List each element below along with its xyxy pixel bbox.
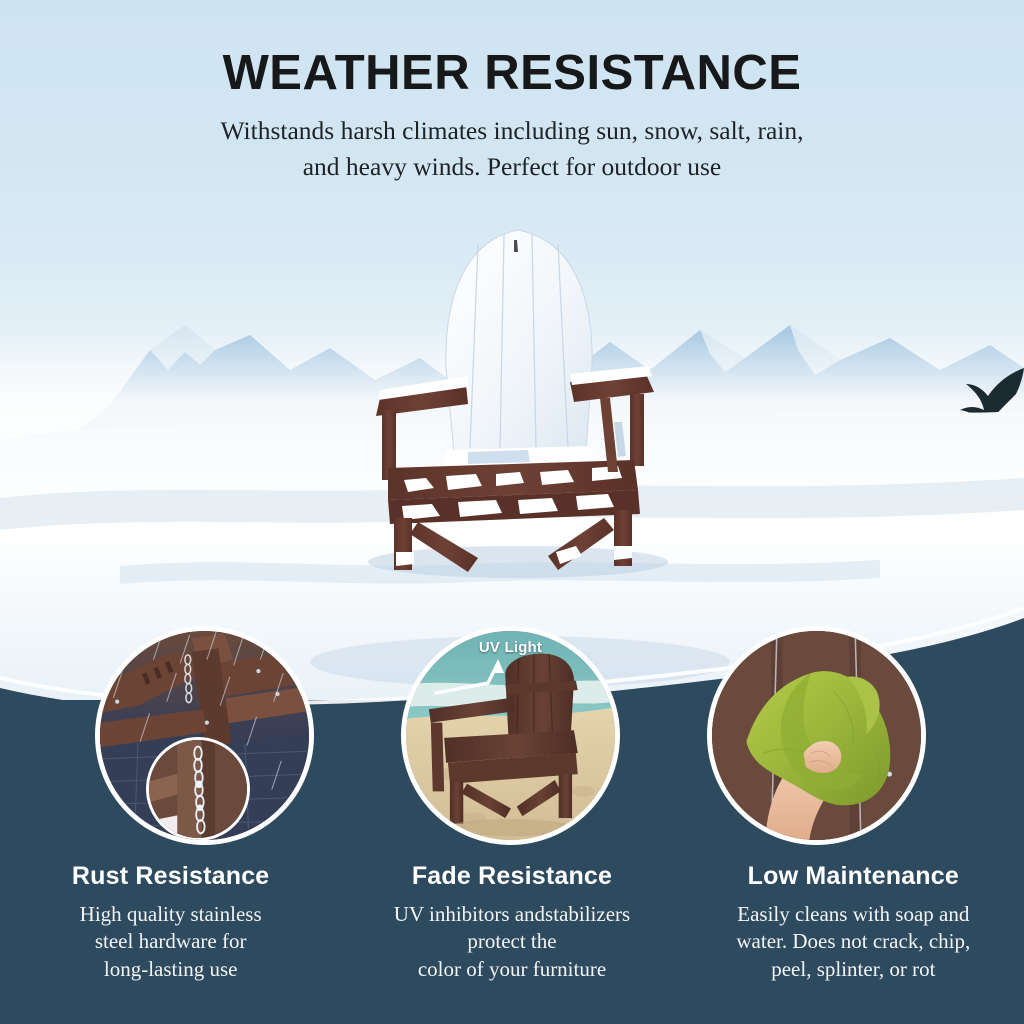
caption-line-1: High quality stainless: [16, 901, 325, 928]
caption-line-2: water. Does not crack, chip,: [699, 928, 1008, 955]
subtitle-line-2: and heavy winds. Perfect for outdoor use: [0, 149, 1024, 184]
caption-low-maintenance: Low Maintenance Easily cleans with soap …: [683, 862, 1024, 983]
caption-line-2: protect the: [357, 928, 666, 955]
caption-line-3: peel, splinter, or rot: [699, 956, 1008, 983]
page-title: WEATHER RESISTANCE: [0, 48, 1024, 99]
caption-line-3: long-lasting use: [16, 956, 325, 983]
feature-image-fade-resistance[interactable]: UV Light: [401, 626, 620, 845]
uv-arrow-icon: [430, 653, 550, 709]
feature-image-low-maintenance[interactable]: [707, 626, 926, 845]
subtitle-line-1: Withstands harsh climates including sun,…: [0, 113, 1024, 148]
chain-closeup-inset: [146, 737, 250, 841]
caption-title: Fade Resistance: [357, 862, 666, 891]
infographic-root: WEATHER RESISTANCE Withstands harsh clim…: [0, 0, 1024, 1024]
caption-line-2: steel hardware for: [16, 928, 325, 955]
feature-image-rust-resistance[interactable]: [95, 626, 314, 845]
caption-title: Low Maintenance: [699, 862, 1008, 891]
hero-chair-image: [318, 222, 718, 582]
caption-rust-resistance: Rust Resistance High quality stainless s…: [0, 862, 341, 983]
caption-line-1: Easily cleans with soap and: [699, 901, 1008, 928]
page-subtitle: Withstands harsh climates including sun,…: [0, 113, 1024, 183]
feature-captions: Rust Resistance High quality stainless s…: [0, 862, 1024, 983]
caption-line-3: color of your furniture: [357, 956, 666, 983]
caption-fade-resistance: Fade Resistance UV inhibitors andstabili…: [341, 862, 682, 983]
caption-body: High quality stainless steel hardware fo…: [16, 901, 325, 983]
uv-light-label: UV Light: [406, 639, 615, 656]
caption-line-1: UV inhibitors andstabilizers: [357, 901, 666, 928]
caption-body: Easily cleans with soap and water. Does …: [699, 901, 1008, 983]
caption-body: UV inhibitors andstabilizers protect the…: [357, 901, 666, 983]
caption-title: Rust Resistance: [16, 862, 325, 891]
header: WEATHER RESISTANCE Withstands harsh clim…: [0, 0, 1024, 184]
